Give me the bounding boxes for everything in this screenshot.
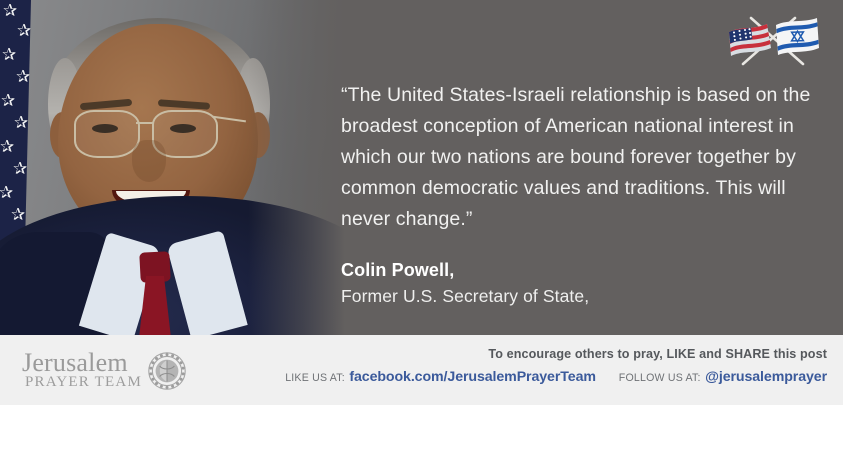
flag-star-icon: ✰ bbox=[16, 68, 30, 85]
flag-star-icon: ✰ bbox=[0, 138, 14, 155]
subject-nose bbox=[132, 140, 166, 182]
cta-headline: To encourage others to pray, LIKE and SH… bbox=[285, 345, 827, 364]
flag-star-icon: ✰ bbox=[13, 160, 27, 177]
quote-author-title: Former U.S. Secretary of State, bbox=[341, 283, 811, 310]
jerusalem-prayer-team-seal-icon bbox=[147, 351, 187, 391]
flag-star-icon: ✰ bbox=[3, 2, 17, 19]
social-cta: To encourage others to pray, LIKE and SH… bbox=[285, 345, 827, 388]
portrait-photo-inner: ✰ ✰ ✰ ✰ ✰ ✰ ✰ ✰ ✰ ✰ bbox=[0, 0, 345, 335]
flag-star-icon: ✰ bbox=[1, 92, 15, 109]
cta-links: LIKE US AT: facebook.com/JerusalemPrayer… bbox=[285, 367, 827, 388]
quote-text: “The United States-Israeli relationship … bbox=[341, 80, 811, 235]
quote-author-name: Colin Powell, bbox=[341, 257, 811, 283]
crossed-us-israel-flags-icon bbox=[721, 8, 825, 68]
portrait-photo: ✰ ✰ ✰ ✰ ✰ ✰ ✰ ✰ ✰ ✰ bbox=[0, 0, 345, 335]
facebook-link[interactable]: facebook.com/JerusalemPrayerTeam bbox=[349, 369, 596, 385]
flag-star-icon: ✰ bbox=[2, 46, 16, 63]
flag-star-icon: ✰ bbox=[0, 184, 13, 201]
flag-star-icon: ✰ bbox=[11, 206, 25, 223]
bottom-white-strip bbox=[0, 405, 843, 450]
flag-star-icon: ✰ bbox=[17, 22, 31, 39]
flag-star-icon: ✰ bbox=[14, 114, 28, 131]
twitter-link[interactable]: @jerusalemprayer bbox=[705, 369, 827, 385]
hero-panel: ✰ ✰ ✰ ✰ ✰ ✰ ✰ ✰ ✰ ✰ bbox=[0, 0, 843, 335]
quote-attribution: Colin Powell, Former U.S. Secretary of S… bbox=[341, 257, 811, 310]
jerusalem-prayer-team-logo[interactable]: Jerusalem PRAYER TEAM bbox=[22, 348, 192, 394]
eyeglasses-bridge bbox=[136, 122, 154, 124]
footer-bar: Jerusalem PRAYER TEAM bbox=[0, 335, 843, 405]
quote-graphic-canvas: ✰ ✰ ✰ ✰ ✰ ✰ ✰ ✰ ✰ ✰ bbox=[0, 0, 843, 450]
eyeglasses-lens-left bbox=[74, 110, 140, 158]
twitter-label: FOLLOW US AT: bbox=[619, 372, 701, 384]
facebook-label: LIKE US AT: bbox=[285, 372, 345, 384]
logo-wordmark: Jerusalem bbox=[22, 349, 128, 377]
quote-block: “The United States-Israeli relationship … bbox=[341, 80, 811, 310]
logo-subwordmark: PRAYER TEAM bbox=[25, 374, 142, 391]
